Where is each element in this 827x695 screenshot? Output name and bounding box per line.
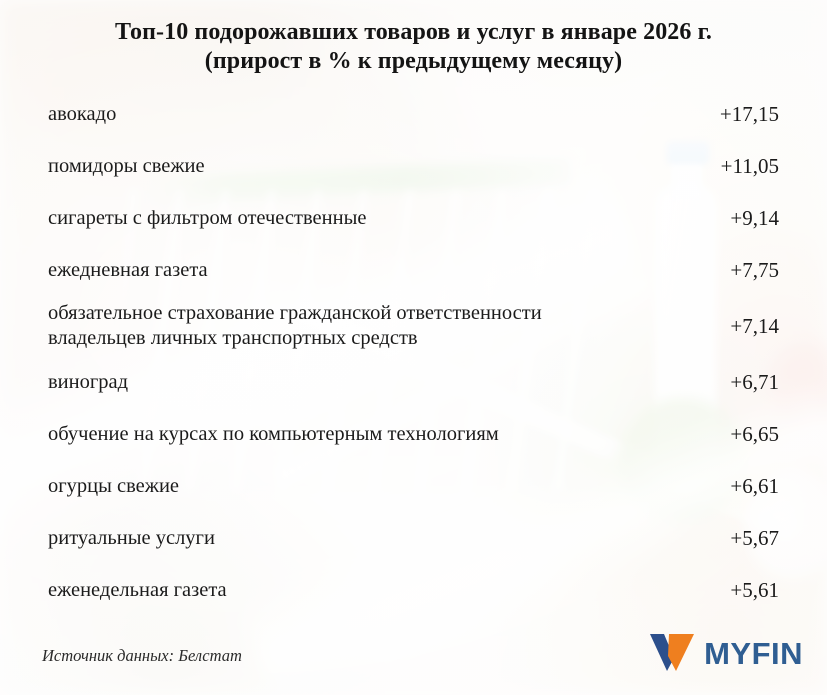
title-line-1: Топ-10 подорожавших товаров и услуг в ян… [0, 18, 827, 47]
list-item: помидоры свежие +11,05 [48, 140, 779, 192]
item-value: +5,61 [687, 578, 779, 603]
item-value: +11,05 [687, 154, 779, 179]
list-item: обязательное страхование гражданской отв… [48, 296, 779, 356]
item-label: помидоры свежие [48, 154, 687, 179]
item-label: огурцы свежие [48, 474, 687, 499]
list-item: ритуальные услуги +5,67 [48, 512, 779, 564]
list-item: огурцы свежие +6,61 [48, 460, 779, 512]
title-line-2: (прирост в % к предыдущему месяцу) [0, 47, 827, 76]
infographic-poster: Топ-10 подорожавших товаров и услуг в ян… [0, 0, 827, 695]
list-item: авокадо +17,15 [48, 88, 779, 140]
item-value: +7,14 [687, 314, 779, 339]
item-value: +17,15 [687, 102, 779, 127]
item-label: обучение на курсах по компьютерным техно… [48, 422, 687, 447]
myfin-wordmark: MYFIN [704, 636, 803, 672]
item-value: +9,14 [687, 206, 779, 231]
myfin-logo[interactable]: MYFIN [649, 632, 803, 681]
item-value: +5,67 [687, 526, 779, 551]
item-value: +6,61 [687, 474, 779, 499]
item-label: ежедневная газета [48, 258, 687, 283]
item-label: ритуальные услуги [48, 526, 687, 551]
page-title: Топ-10 подорожавших товаров и услуг в ян… [0, 0, 827, 76]
item-label: виноград [48, 370, 687, 395]
data-source-note: Источник данных: Белстат [42, 646, 242, 666]
item-label: сигареты с фильтром отечественные [48, 206, 687, 231]
ranking-list: авокадо +17,15 помидоры свежие +11,05 си… [0, 88, 827, 616]
item-label: авокадо [48, 102, 687, 127]
poster-content: Топ-10 подорожавших товаров и услуг в ян… [0, 0, 827, 695]
myfin-v-logo-icon [649, 632, 695, 677]
item-value: +7,75 [687, 258, 779, 283]
list-item: еженедельная газета +5,61 [48, 564, 779, 616]
footer: Источник данных: Белстат MYFIN [0, 617, 827, 695]
item-value: +6,71 [687, 370, 779, 395]
list-item: обучение на курсах по компьютерным техно… [48, 408, 779, 460]
item-label-line-1: обязательное страхование гражданской отв… [48, 302, 542, 324]
list-item: виноград +6,71 [48, 356, 779, 408]
list-item: ежедневная газета +7,75 [48, 244, 779, 296]
item-label: обязательное страхование гражданской отв… [48, 301, 687, 351]
item-label: еженедельная газета [48, 578, 687, 603]
item-label-line-2: владельцев личных транспортных средств [48, 326, 671, 351]
item-value: +6,65 [687, 422, 779, 447]
list-item: сигареты с фильтром отечественные +9,14 [48, 192, 779, 244]
